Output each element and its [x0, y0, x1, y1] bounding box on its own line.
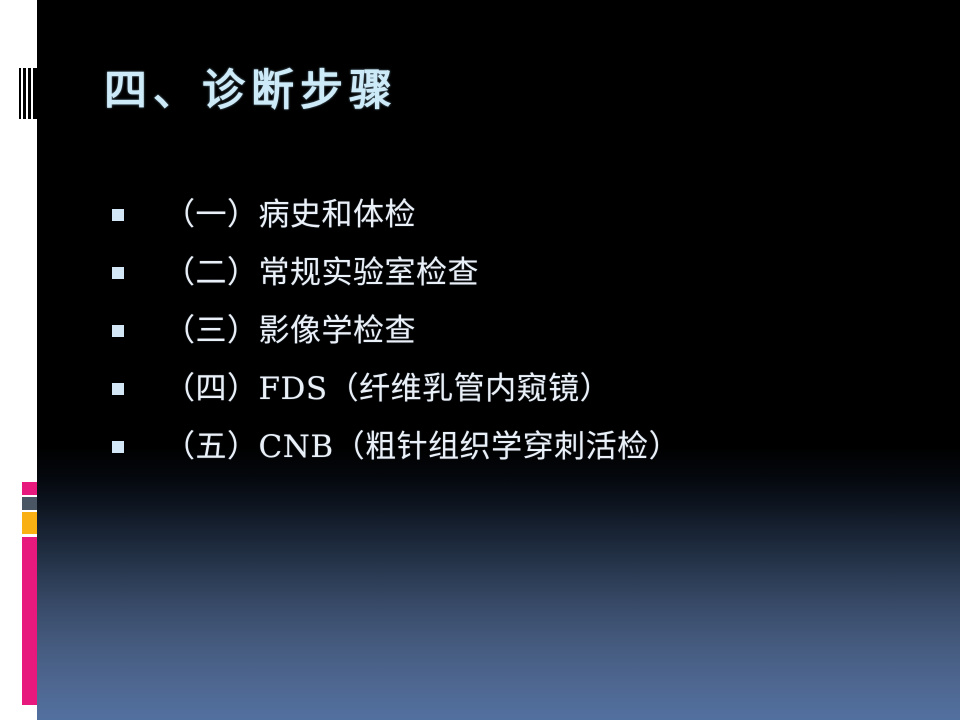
accent-block-orange: [22, 512, 37, 534]
accent-block-slate: [22, 497, 37, 510]
list-item: （一）病史和体检: [112, 190, 932, 248]
presentation-slide: 四、诊断步骤 （一）病史和体检 （二）常规实验室检查 （三）影像学检查 （四）F…: [0, 0, 960, 720]
square-bullet-icon: [112, 383, 124, 395]
list-item: （四）FDS（纤维乳管内窥镜）: [112, 364, 932, 422]
square-bullet-icon: [112, 325, 124, 337]
list-item-label: （五）CNB（粗针组织学穿刺活检）: [164, 422, 932, 472]
accent-bar-pink-long: [22, 537, 37, 705]
square-bullet-icon: [112, 441, 124, 453]
square-bullet-icon: [112, 267, 124, 279]
list-item-label: （二）常规实验室检查: [164, 248, 932, 298]
list-item-label: （四）FDS（纤维乳管内窥镜）: [164, 364, 932, 414]
accent-block-pink-top: [22, 482, 37, 495]
deco-bar-2: [23, 68, 26, 119]
list-item: （三）影像学检查: [112, 306, 932, 364]
square-bullet-icon: [112, 209, 124, 221]
list-item-label: （一）病史和体检: [164, 190, 932, 240]
bullet-list: （一）病史和体检 （二）常规实验室检查 （三）影像学检查 （四）FDS（纤维乳管…: [112, 190, 932, 480]
deco-bar-1: [19, 68, 21, 119]
deco-bar-4: [33, 68, 37, 119]
list-item: （二）常规实验室检查: [112, 248, 932, 306]
list-item-label: （三）影像学检查: [164, 306, 932, 356]
vertical-bars-decoration-icon: [19, 68, 37, 119]
slide-title: 四、诊断步骤: [104, 60, 864, 122]
deco-bar-3: [28, 68, 31, 119]
list-item: （五）CNB（粗针组织学穿刺活检）: [112, 422, 932, 480]
